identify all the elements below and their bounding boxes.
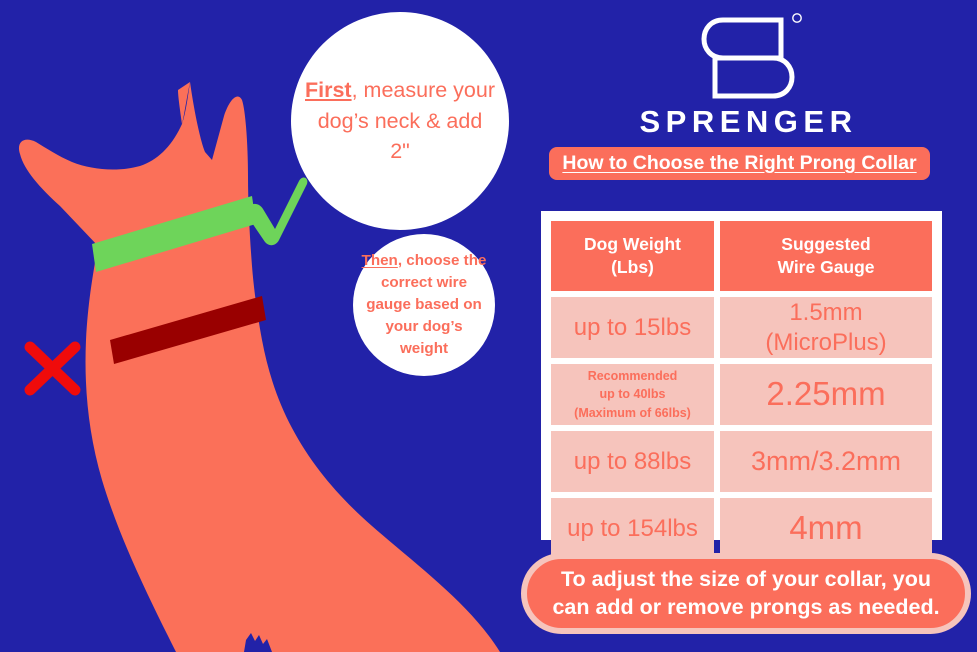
row4-weight: up to 154lbs [567,514,698,544]
trademark-dot [792,14,800,22]
how-to-choose-button[interactable]: How to Choose the Right Prong Collar [549,147,930,180]
wire-gauge-table: Dog Weight (Lbs) Suggested Wire Gauge up… [541,211,942,540]
row3-weight: up to 88lbs [574,447,691,477]
infographic-canvas: First, measure your dog’s neck & add 2" … [0,0,977,652]
callout-text: To adjust the size of your collar, you c… [545,566,947,622]
table-row: up to 15lbs 1.5mm (MicroPlus) [551,297,932,358]
sprenger-s-logo-icon [693,10,805,111]
brand-wordmark: SPRENGER [520,104,977,140]
callout-line2: can add or remove prongs as needed. [552,595,939,619]
cell-weight-3: up to 88lbs [551,431,714,492]
sprenger-s-logo-svg [693,10,805,106]
adjust-size-callout: To adjust the size of your collar, you c… [521,553,971,634]
header-weight-line2: (Lbs) [611,256,654,279]
cell-gauge-4: 4mm [720,498,932,559]
table-row: Recommended up to 40lbs (Maximum of 66lb… [551,364,932,425]
step-first-text: First, measure your dog’s neck & add 2" [291,75,509,167]
check-icon [246,177,307,245]
table-header-row: Dog Weight (Lbs) Suggested Wire Gauge [551,221,932,291]
cell-gauge-2: 2.25mm [720,364,932,425]
table-header-weight: Dog Weight (Lbs) [551,221,714,291]
step-then-emphasis: Then [362,252,398,269]
table-row: up to 88lbs 3mm/3.2mm [551,431,932,492]
step-first-emphasis: First [305,78,352,102]
cell-weight-2: Recommended up to 40lbs (Maximum of 66lb… [551,364,714,425]
cell-weight-4: up to 154lbs [551,498,714,559]
header-gauge-line2: Wire Gauge [777,256,874,279]
step-then-text: Then, choose the correct wire gauge base… [353,250,495,360]
header-gauge-line1: Suggested [781,233,870,256]
table-header-gauge: Suggested Wire Gauge [720,221,932,291]
cell-gauge-1: 1.5mm (MicroPlus) [720,297,932,358]
row3-gauge: 3mm/3.2mm [751,447,901,477]
row2-weight-c: (Maximum of 66lbs) [574,404,691,422]
row2-weight-b: up to 40lbs [600,385,666,403]
step-first-circle: First, measure your dog’s neck & add 2" [291,12,509,230]
row2-weight-a: Recommended [588,367,678,385]
table-row: up to 154lbs 4mm [551,498,932,559]
row2-gauge: 2.25mm [766,376,885,412]
row1-gauge-a: 1.5mm [789,298,862,328]
x-icon [30,347,75,390]
row4-gauge: 4mm [789,510,862,546]
row1-weight: up to 15lbs [574,313,691,343]
row1-gauge-b: (MicroPlus) [765,328,886,358]
header-weight-line1: Dog Weight [584,233,681,256]
cell-gauge-3: 3mm/3.2mm [720,431,932,492]
step-then-circle: Then, choose the correct wire gauge base… [353,234,495,376]
cell-weight-1: up to 15lbs [551,297,714,358]
callout-line1: To adjust the size of your collar, you [561,567,931,591]
